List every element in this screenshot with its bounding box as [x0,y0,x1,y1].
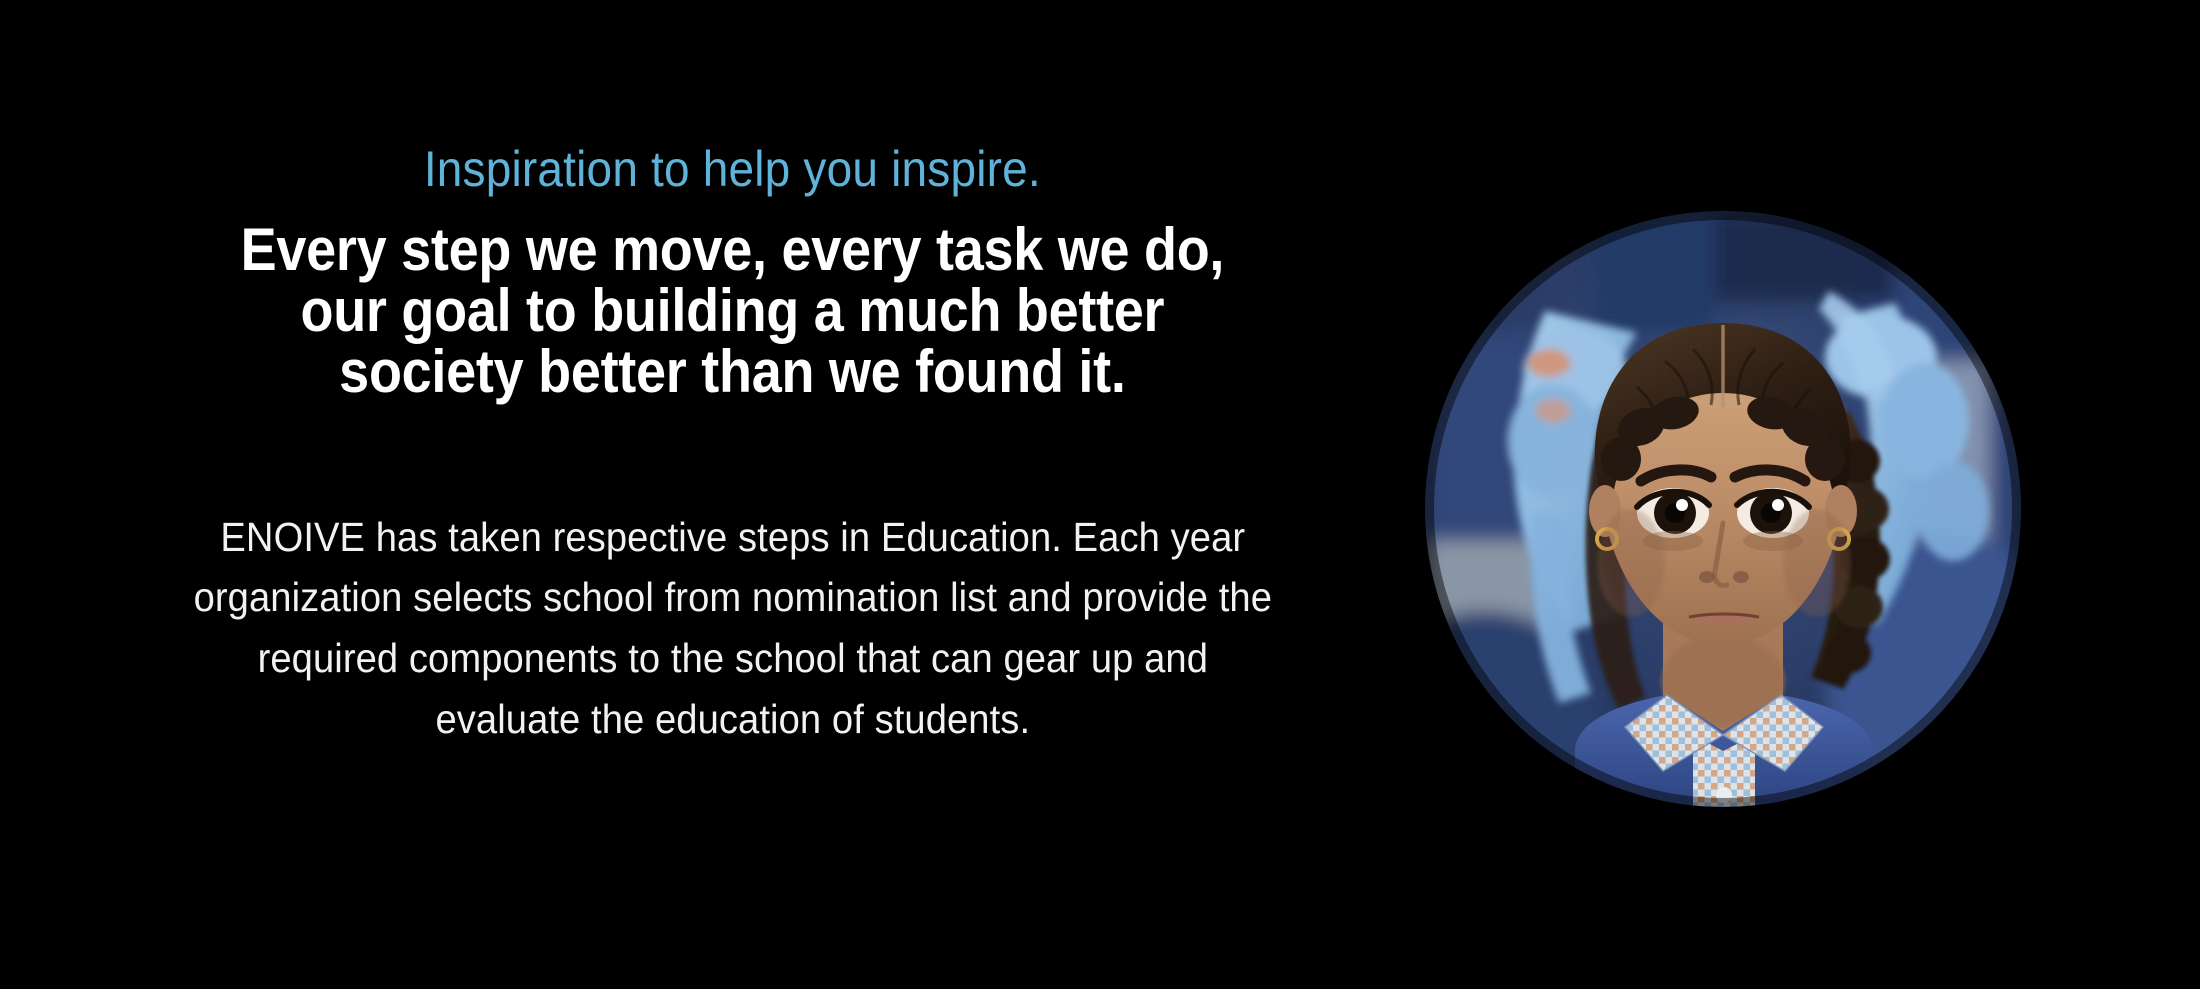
body-line-1: ENOIVE has taken respective steps in Edu… [193,507,1271,568]
hero-text-column: Inspiration to help you inspire. Every s… [60,0,1405,989]
headline-line-3: society better than we found it. [241,341,1225,402]
hero-tagline: Inspiration to help you inspire. [424,142,1041,197]
body-line-3: required components to the school that c… [193,628,1271,689]
headline-line-1: Every step we move, every task we do, [241,219,1225,280]
body-line-4: evaluate the education of students. [193,689,1271,750]
hero-body-paragraph: ENOIVE has taken respective steps in Edu… [193,507,1271,750]
hero-headline: Every step we move, every task we do, ou… [241,219,1225,403]
portrait-illustration [1425,211,2021,807]
hero-section: Inspiration to help you inspire. Every s… [0,0,2200,989]
circular-portrait-schoolgirl [1425,211,2021,807]
headline-line-2: our goal to building a much better [241,280,1225,341]
body-line-2: organization selects school from nominat… [193,567,1271,628]
